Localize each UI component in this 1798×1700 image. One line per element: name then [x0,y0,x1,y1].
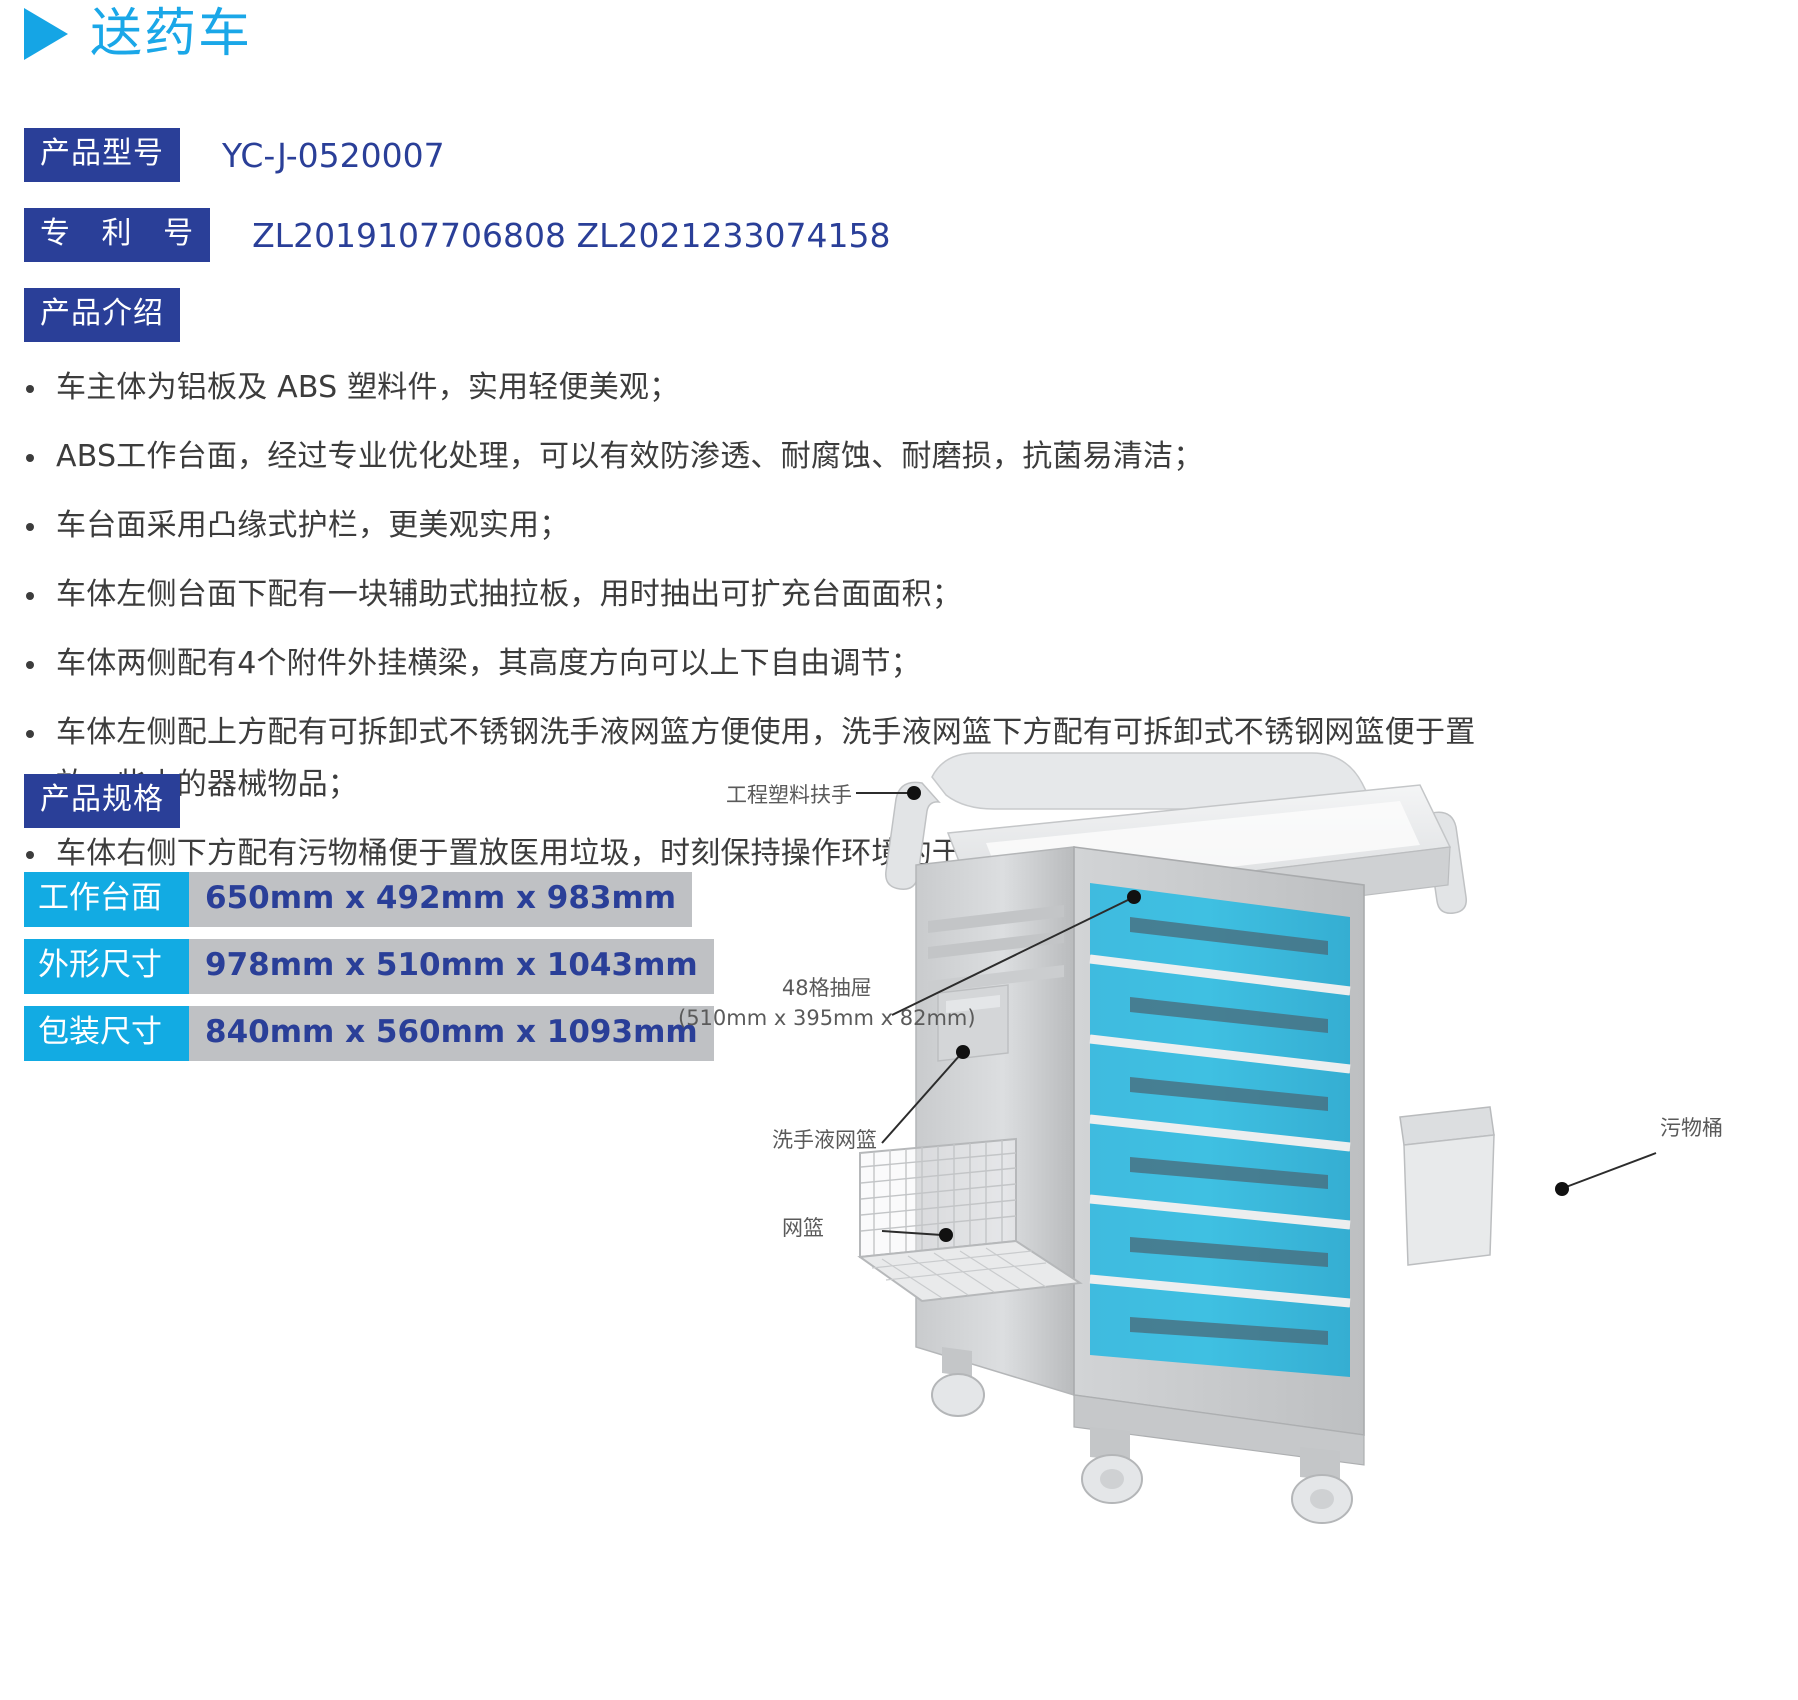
product-model-row: 产品型号 YC-J-0520007 [24,128,445,182]
patent-number-row: 专 利 号 ZL2019107706808 ZL2021233074158 [24,208,890,262]
spec-table: 工作台面 650mm x 492mm x 983mm 外形尺寸 978mm x … [24,872,684,1073]
table-row: 外形尺寸 978mm x 510mm x 1043mm [24,939,684,994]
callout-wire-basket: 网篮 [782,1213,824,1243]
spec-section-heading-wrap: 产品规格 [24,774,180,828]
spec-section-heading: 产品规格 [24,774,180,828]
callout-sanitizer-basket: 洗手液网篮 [772,1125,877,1155]
callout-waste-bin: 污物桶 [1660,1113,1723,1143]
spec-value: 650mm x 492mm x 983mm [189,872,692,927]
product-photo-area: 工程塑料扶手 48格抽屉 (510mm x 395mm x 82mm) 洗手液网… [660,735,1798,1700]
page-title-row: 送药车 [24,8,252,60]
list-item: 车体左侧台面下配有一块辅助式抽拉板，用时抽出可扩充台面面积； [22,569,1482,621]
product-model-label: 产品型号 [24,128,180,182]
play-triangle-icon [24,8,68,60]
table-row: 工作台面 650mm x 492mm x 983mm [24,872,684,927]
list-item: 车体两侧配有4个附件外挂横梁，其高度方向可以上下自由调节； [22,638,1482,690]
patent-number-value: ZL2019107706808 ZL2021233074158 [252,216,890,255]
callout-drawer-dims: (510mm x 395mm x 82mm) [678,1003,976,1033]
spec-value: 840mm x 560mm x 1093mm [189,1006,714,1061]
list-item: ABS工作台面，经过专业优化处理，可以有效防渗透、耐腐蚀、耐磨损，抗菌易清洁； [22,431,1482,483]
spec-key: 外形尺寸 [24,939,189,994]
list-item: 车主体为铝板及 ABS 塑料件，实用轻便美观； [22,362,1482,414]
intro-section-heading-wrap: 产品介绍 [24,288,180,342]
callout-drawer: 48格抽屉 (510mm x 395mm x 82mm) [678,973,976,1033]
waste-bin-body [1404,1135,1494,1265]
callout-drawer-title: 48格抽屉 [782,976,872,1000]
patent-number-label: 专 利 号 [24,208,210,262]
callout-handle: 工程塑料扶手 [726,780,852,810]
product-model-value: YC-J-0520007 [222,136,445,175]
spec-key: 工作台面 [24,872,189,927]
spec-key: 包装尺寸 [24,1006,189,1061]
castor-stem [942,1347,972,1377]
castor-hub [1100,1469,1124,1489]
table-row: 包装尺寸 840mm x 560mm x 1093mm [24,1006,684,1061]
list-item: 车台面采用凸缘式护栏，更美观实用； [22,500,1482,552]
spec-value: 978mm x 510mm x 1043mm [189,939,714,994]
page-title: 送药车 [90,8,252,60]
intro-section-heading: 产品介绍 [24,288,180,342]
castor-hub [1310,1489,1334,1509]
medicine-trolley-illustration [660,735,1798,1700]
waste-bin [1400,1107,1494,1265]
castor-wheel [932,1374,984,1416]
